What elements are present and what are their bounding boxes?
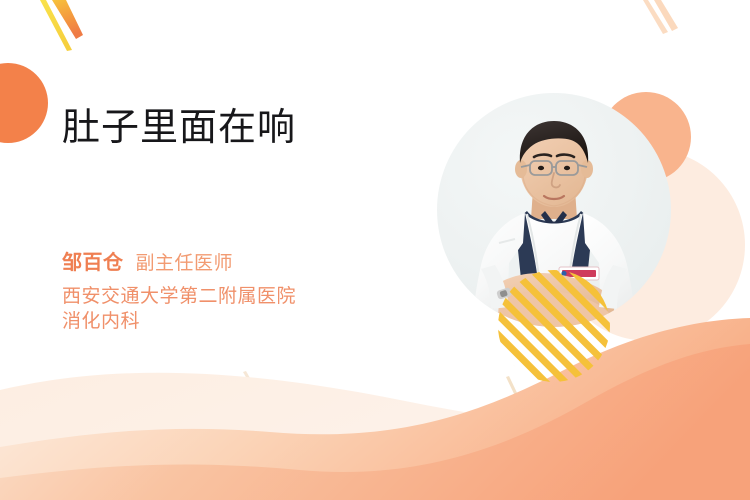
top-right-stripe-a	[643, 0, 668, 34]
doctor-department: 消化内科	[62, 309, 402, 334]
lower-left-faint-stripe	[243, 371, 258, 393]
doctor-job-title: 副主任医师	[136, 253, 234, 274]
bottom-wave-mid	[0, 318, 750, 500]
left-orange-circle	[0, 63, 48, 143]
bottom-wave-dark	[0, 344, 750, 500]
top-left-yellow-stripe	[40, 0, 72, 51]
doctor-hospital: 西安交通大学第二附属医院	[62, 284, 402, 309]
bottom-wave-light	[0, 373, 750, 500]
doctor-info-block: 邹百仓副主任医师 西安交通大学第二附属医院 消化内科	[62, 250, 402, 334]
doctor-name: 邹百仓	[62, 252, 124, 274]
title-block: 肚子里面在响	[62, 104, 392, 152]
top-left-orange-stripe	[52, 0, 83, 39]
top-right-stripe-b	[654, 0, 678, 31]
portrait-backdrop-circle	[437, 93, 671, 327]
doctor-video-card: 肚子里面在响 邹百仓副主任医师 西安交通大学第二附属医院 消化内科	[0, 0, 750, 500]
doctor-portrait	[437, 93, 671, 327]
doctor-illustration	[437, 93, 671, 327]
lower-mid-faint-stripe	[506, 376, 519, 398]
page-title: 肚子里面在响	[62, 104, 392, 152]
doctor-name-row: 邹百仓副主任医师	[62, 250, 402, 278]
